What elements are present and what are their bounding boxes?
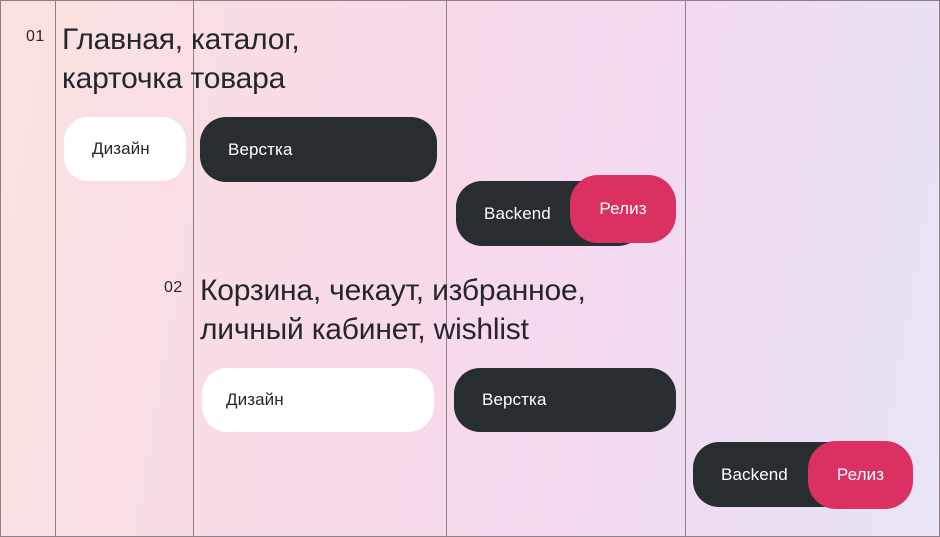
task-pill-label: Релиз	[837, 465, 884, 485]
row-index-01: 01	[26, 28, 45, 46]
task-pill-label: Backend	[484, 204, 551, 224]
row-heading-01-line-1: Главная, каталог,	[62, 20, 300, 59]
task-pill-label: Верстка	[228, 140, 293, 160]
row-index-02: 02	[164, 279, 183, 297]
column-divider-3	[446, 0, 447, 537]
task-pill-label: Релиз	[599, 199, 646, 219]
task-pill-design-row-01[interactable]: Дизайн	[64, 117, 186, 181]
task-pill-release-row-02[interactable]: Релиз	[808, 441, 913, 509]
task-pill-release-row-01[interactable]: Релиз	[570, 175, 676, 243]
task-pill-design-row-02[interactable]: Дизайн	[202, 368, 434, 432]
column-divider-1	[55, 0, 56, 537]
row-heading-01-line-2: карточка товара	[62, 59, 285, 98]
row-heading-02-line-2: личный кабинет, wishlist	[200, 310, 529, 349]
timeline-board: 01 Главная, каталог, карточка товара Диз…	[0, 0, 940, 537]
task-pill-label: Backend	[721, 465, 788, 485]
column-divider-4	[685, 0, 686, 537]
task-pill-layout-row-01[interactable]: Верстка	[200, 117, 437, 182]
row-heading-02-line-1: Корзина, чекаут, избранное,	[200, 271, 586, 310]
task-pill-layout-row-02[interactable]: Верстка	[454, 368, 676, 432]
task-pill-label: Дизайн	[226, 390, 284, 410]
task-pill-label: Дизайн	[92, 139, 150, 159]
task-pill-label: Верстка	[482, 390, 547, 410]
